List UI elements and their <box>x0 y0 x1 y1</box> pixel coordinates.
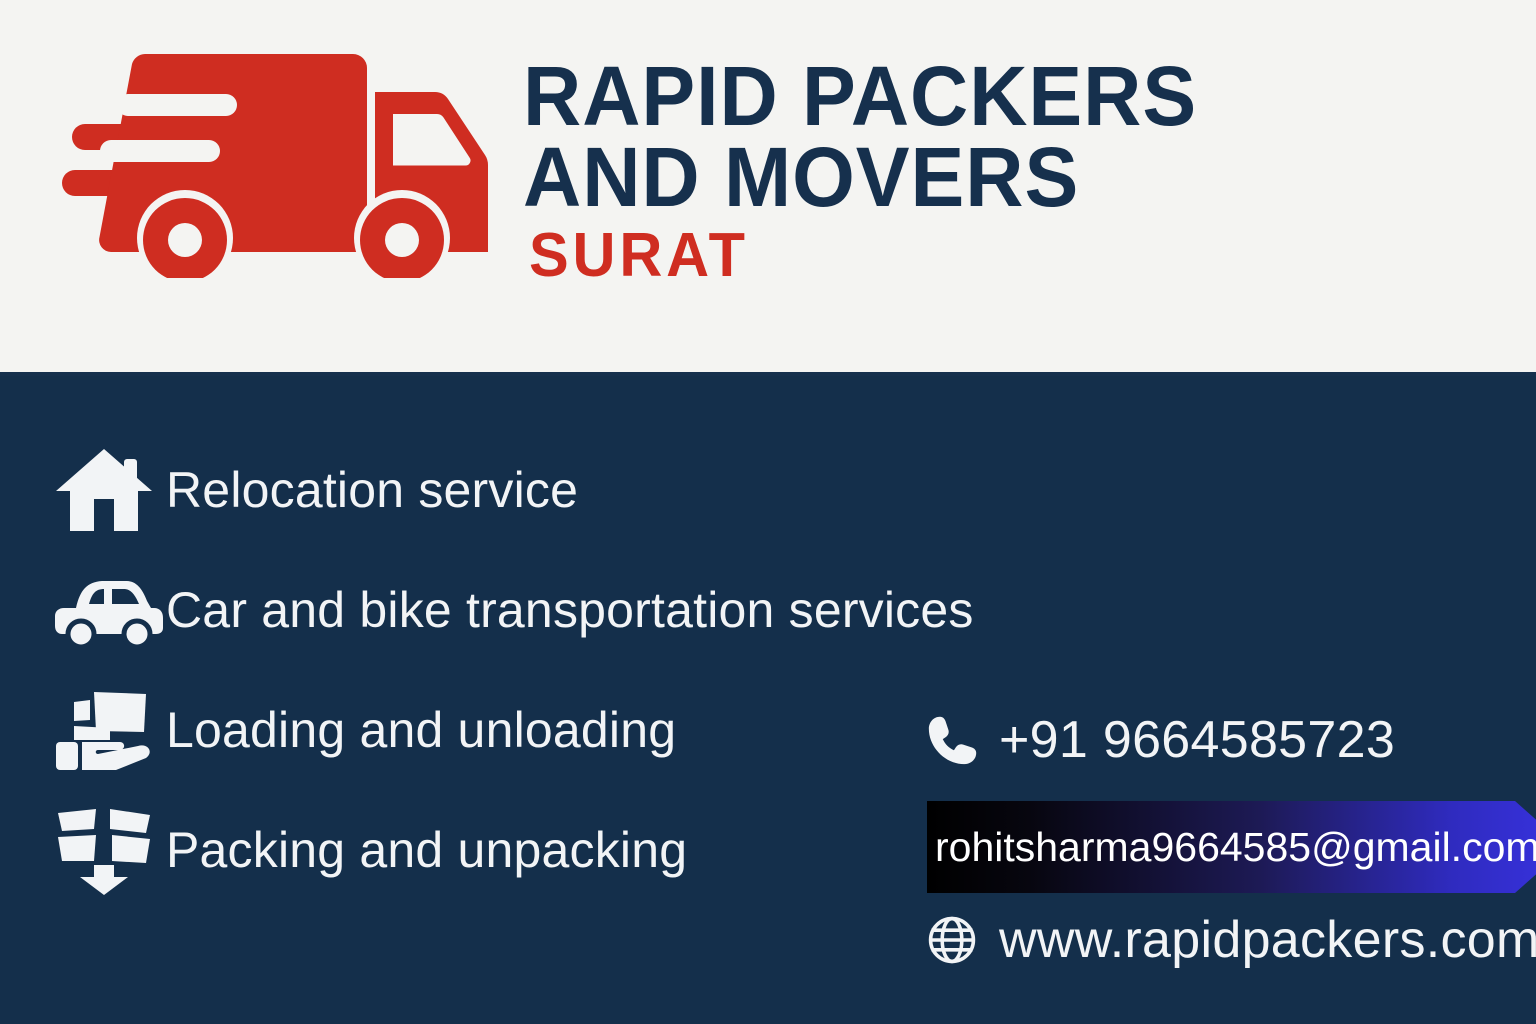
service-label: Loading and unloading <box>166 701 676 759</box>
email-address: rohitsharma9664585@gmail.com <box>935 824 1536 871</box>
website-url: www.rapidpackers.com <box>999 910 1536 970</box>
service-label: Relocation service <box>166 461 578 519</box>
car-icon <box>54 567 166 653</box>
header-banner: RAPID PACKERS AND MOVERS SURAT <box>0 0 1536 376</box>
house-icon <box>54 447 166 533</box>
brand-line-1: RAPID PACKERS <box>523 56 1445 137</box>
phone-row[interactable]: +91 9664585723 <box>927 690 1536 790</box>
delivery-truck-icon <box>62 48 492 278</box>
hand-holding-boxes-icon <box>54 687 166 773</box>
business-card: RAPID PACKERS AND MOVERS SURAT Relocatio… <box>0 0 1536 1024</box>
phone-icon <box>927 714 999 766</box>
service-label: Packing and unpacking <box>166 821 687 879</box>
globe-icon <box>927 915 999 965</box>
brand-city: SURAT <box>529 225 1445 287</box>
brand-line-2: AND MOVERS <box>523 137 1445 218</box>
list-item: Relocation service <box>54 430 1234 550</box>
website-row[interactable]: www.rapidpackers.com <box>927 890 1536 990</box>
phone-number: +91 9664585723 <box>999 710 1395 770</box>
list-item: Car and bike transportation services <box>54 550 1234 670</box>
service-label: Car and bike transportation services <box>166 581 974 639</box>
email-badge[interactable]: rohitsharma9664585@gmail.com <box>927 801 1536 893</box>
brand-lockup: RAPID PACKERS AND MOVERS SURAT <box>523 56 1483 287</box>
open-box-icon <box>54 807 166 893</box>
